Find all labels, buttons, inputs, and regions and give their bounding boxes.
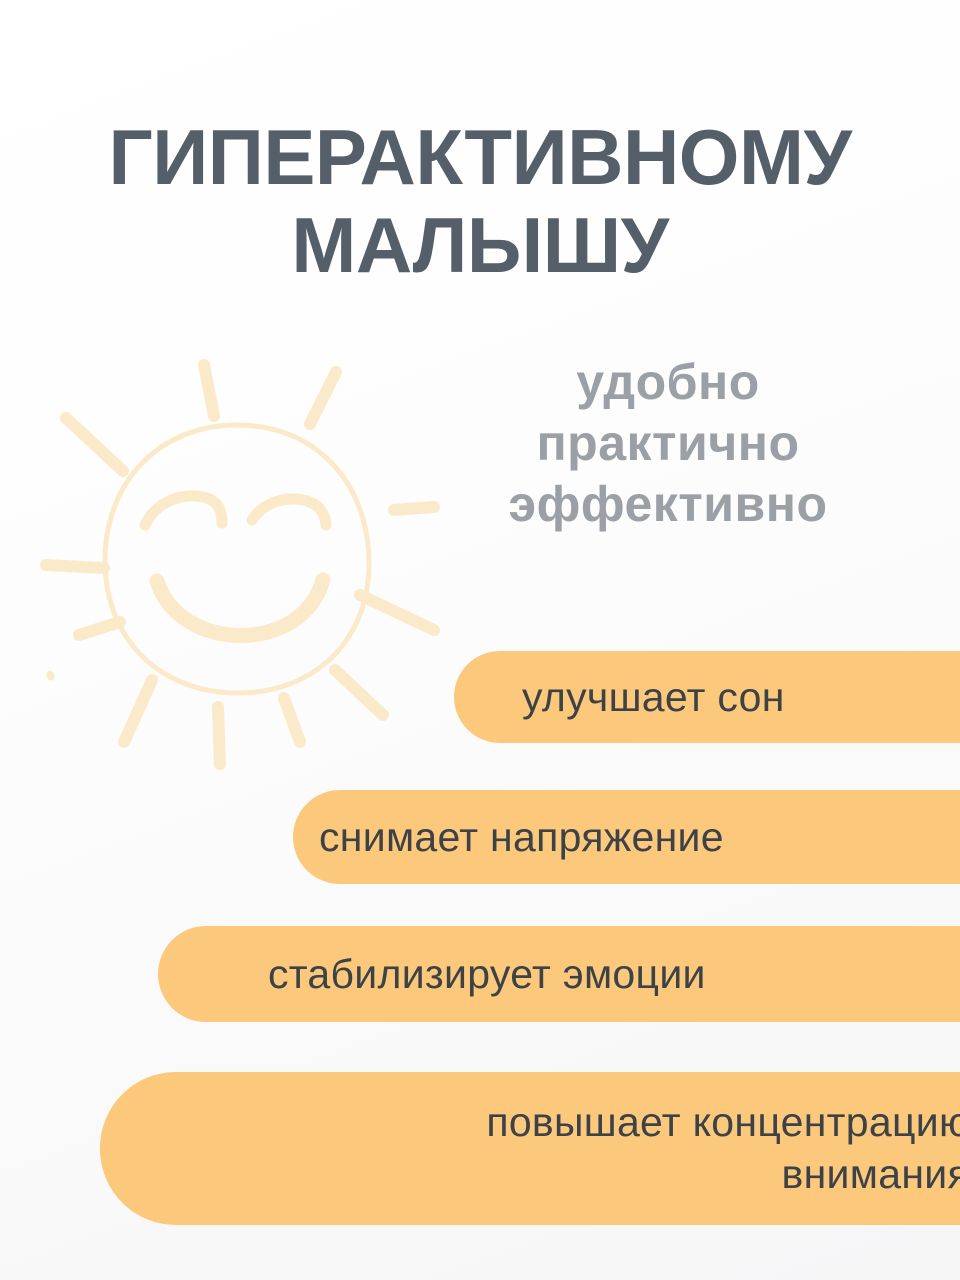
page-title-line-2: МАЛЫШУ — [0, 202, 960, 289]
page-title-line-1: ГИПЕРАКТИВНОМУ — [0, 114, 960, 201]
subtitle-line-2: практично — [388, 413, 948, 474]
benefit-pill-label-line-1: повышает концентрацию — [210, 1096, 960, 1148]
sun-rays — [46, 365, 434, 764]
benefit-pill-label-line-2: внимания — [210, 1148, 960, 1200]
sun-ray-dot — [50, 674, 51, 677]
benefit-pill-improves-concentration[interactable]: повышает концентрацию внимания — [100, 1072, 960, 1225]
subtitle: удобно практично эффективно — [388, 352, 948, 535]
benefit-pill-stabilizes-emotions[interactable]: стабилизирует эмоции — [158, 926, 960, 1022]
subtitle-line-1: удобно — [388, 352, 948, 413]
benefit-pill-label: стабилизирует эмоции — [268, 948, 706, 1000]
sun-face-circle — [105, 425, 369, 693]
page-title: ГИПЕРАКТИВНОМУ МАЛЫШУ — [0, 114, 960, 289]
sun-left-eye — [145, 496, 222, 525]
benefit-pill-improves-sleep[interactable]: улучшает сон — [454, 651, 960, 743]
subtitle-line-3: эффективно — [388, 474, 948, 535]
sun-right-eye — [252, 499, 326, 525]
sun-smile — [157, 580, 323, 636]
benefit-pill-relieves-tension[interactable]: снимает напряжение — [293, 790, 960, 884]
benefit-pill-label: снимает напряжение — [319, 811, 724, 863]
poster-canvas: ГИПЕРАКТИВНОМУ МАЛЫШУ удобно практично э… — [0, 0, 960, 1280]
benefit-pill-label: улучшает сон — [522, 671, 785, 723]
